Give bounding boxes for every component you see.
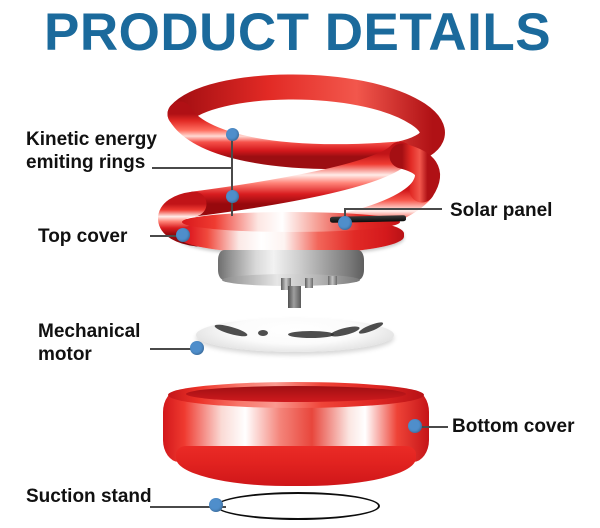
product-details-diagram: PRODUCT DETAILS: [0, 0, 600, 528]
motor-slot-3: [288, 331, 334, 338]
top-cover-face: [182, 212, 400, 232]
bottom-cover-body: [163, 390, 429, 462]
bottom-cover-rim: [168, 382, 424, 408]
motor-slot-2: [258, 330, 268, 336]
callout-dot-bottom-cover: [408, 419, 422, 433]
motor-slot-1: [214, 322, 249, 338]
top-cover-disc: [178, 216, 404, 254]
motor-hub-rim: [222, 274, 360, 286]
callout-label-suction-stand: Suction stand: [26, 485, 152, 508]
callout-label-bottom-cover: Bottom cover: [452, 415, 574, 438]
callout-dot-kinetic-ring-lower: [226, 190, 239, 203]
motor-hub: [218, 250, 364, 280]
callout-dot-suction-stand: [209, 498, 223, 512]
callout-dot-mechanical-motor: [190, 341, 204, 355]
motor-disc: [196, 318, 394, 352]
spiral-coil-rings: [150, 72, 450, 257]
callout-label-solar-panel: Solar panel: [450, 199, 552, 222]
product-illustration: [0, 0, 600, 528]
suction-ring: [216, 492, 380, 520]
callout-label-top-cover: Top cover: [38, 225, 127, 248]
bottom-cover-opening: [186, 386, 406, 402]
callout-dot-solar-panel: [338, 216, 352, 230]
motor-slot-5: [358, 320, 384, 335]
spiral-coil-svg: [150, 72, 450, 257]
callout-dot-kinetic-ring-upper: [226, 128, 239, 141]
leader-line-bottom-cover: [418, 426, 448, 428]
drive-shaft: [288, 286, 301, 308]
page-title: PRODUCT DETAILS: [44, 2, 584, 64]
hub-pin-left: [281, 278, 291, 290]
callout-label-mechanical-motor: Mechanical motor: [38, 320, 178, 366]
leader-line-kinetic-rings-horizontal: [152, 167, 232, 169]
motor-slot-4: [330, 324, 361, 338]
leader-line-solar-panel-horizontal: [344, 208, 442, 210]
hub-pin-right: [328, 276, 337, 285]
callout-dot-top-cover: [176, 228, 190, 242]
leader-line-kinetic-rings-vertical: [231, 134, 233, 216]
hub-pin-center: [305, 278, 313, 288]
bottom-cover-base: [176, 446, 416, 486]
